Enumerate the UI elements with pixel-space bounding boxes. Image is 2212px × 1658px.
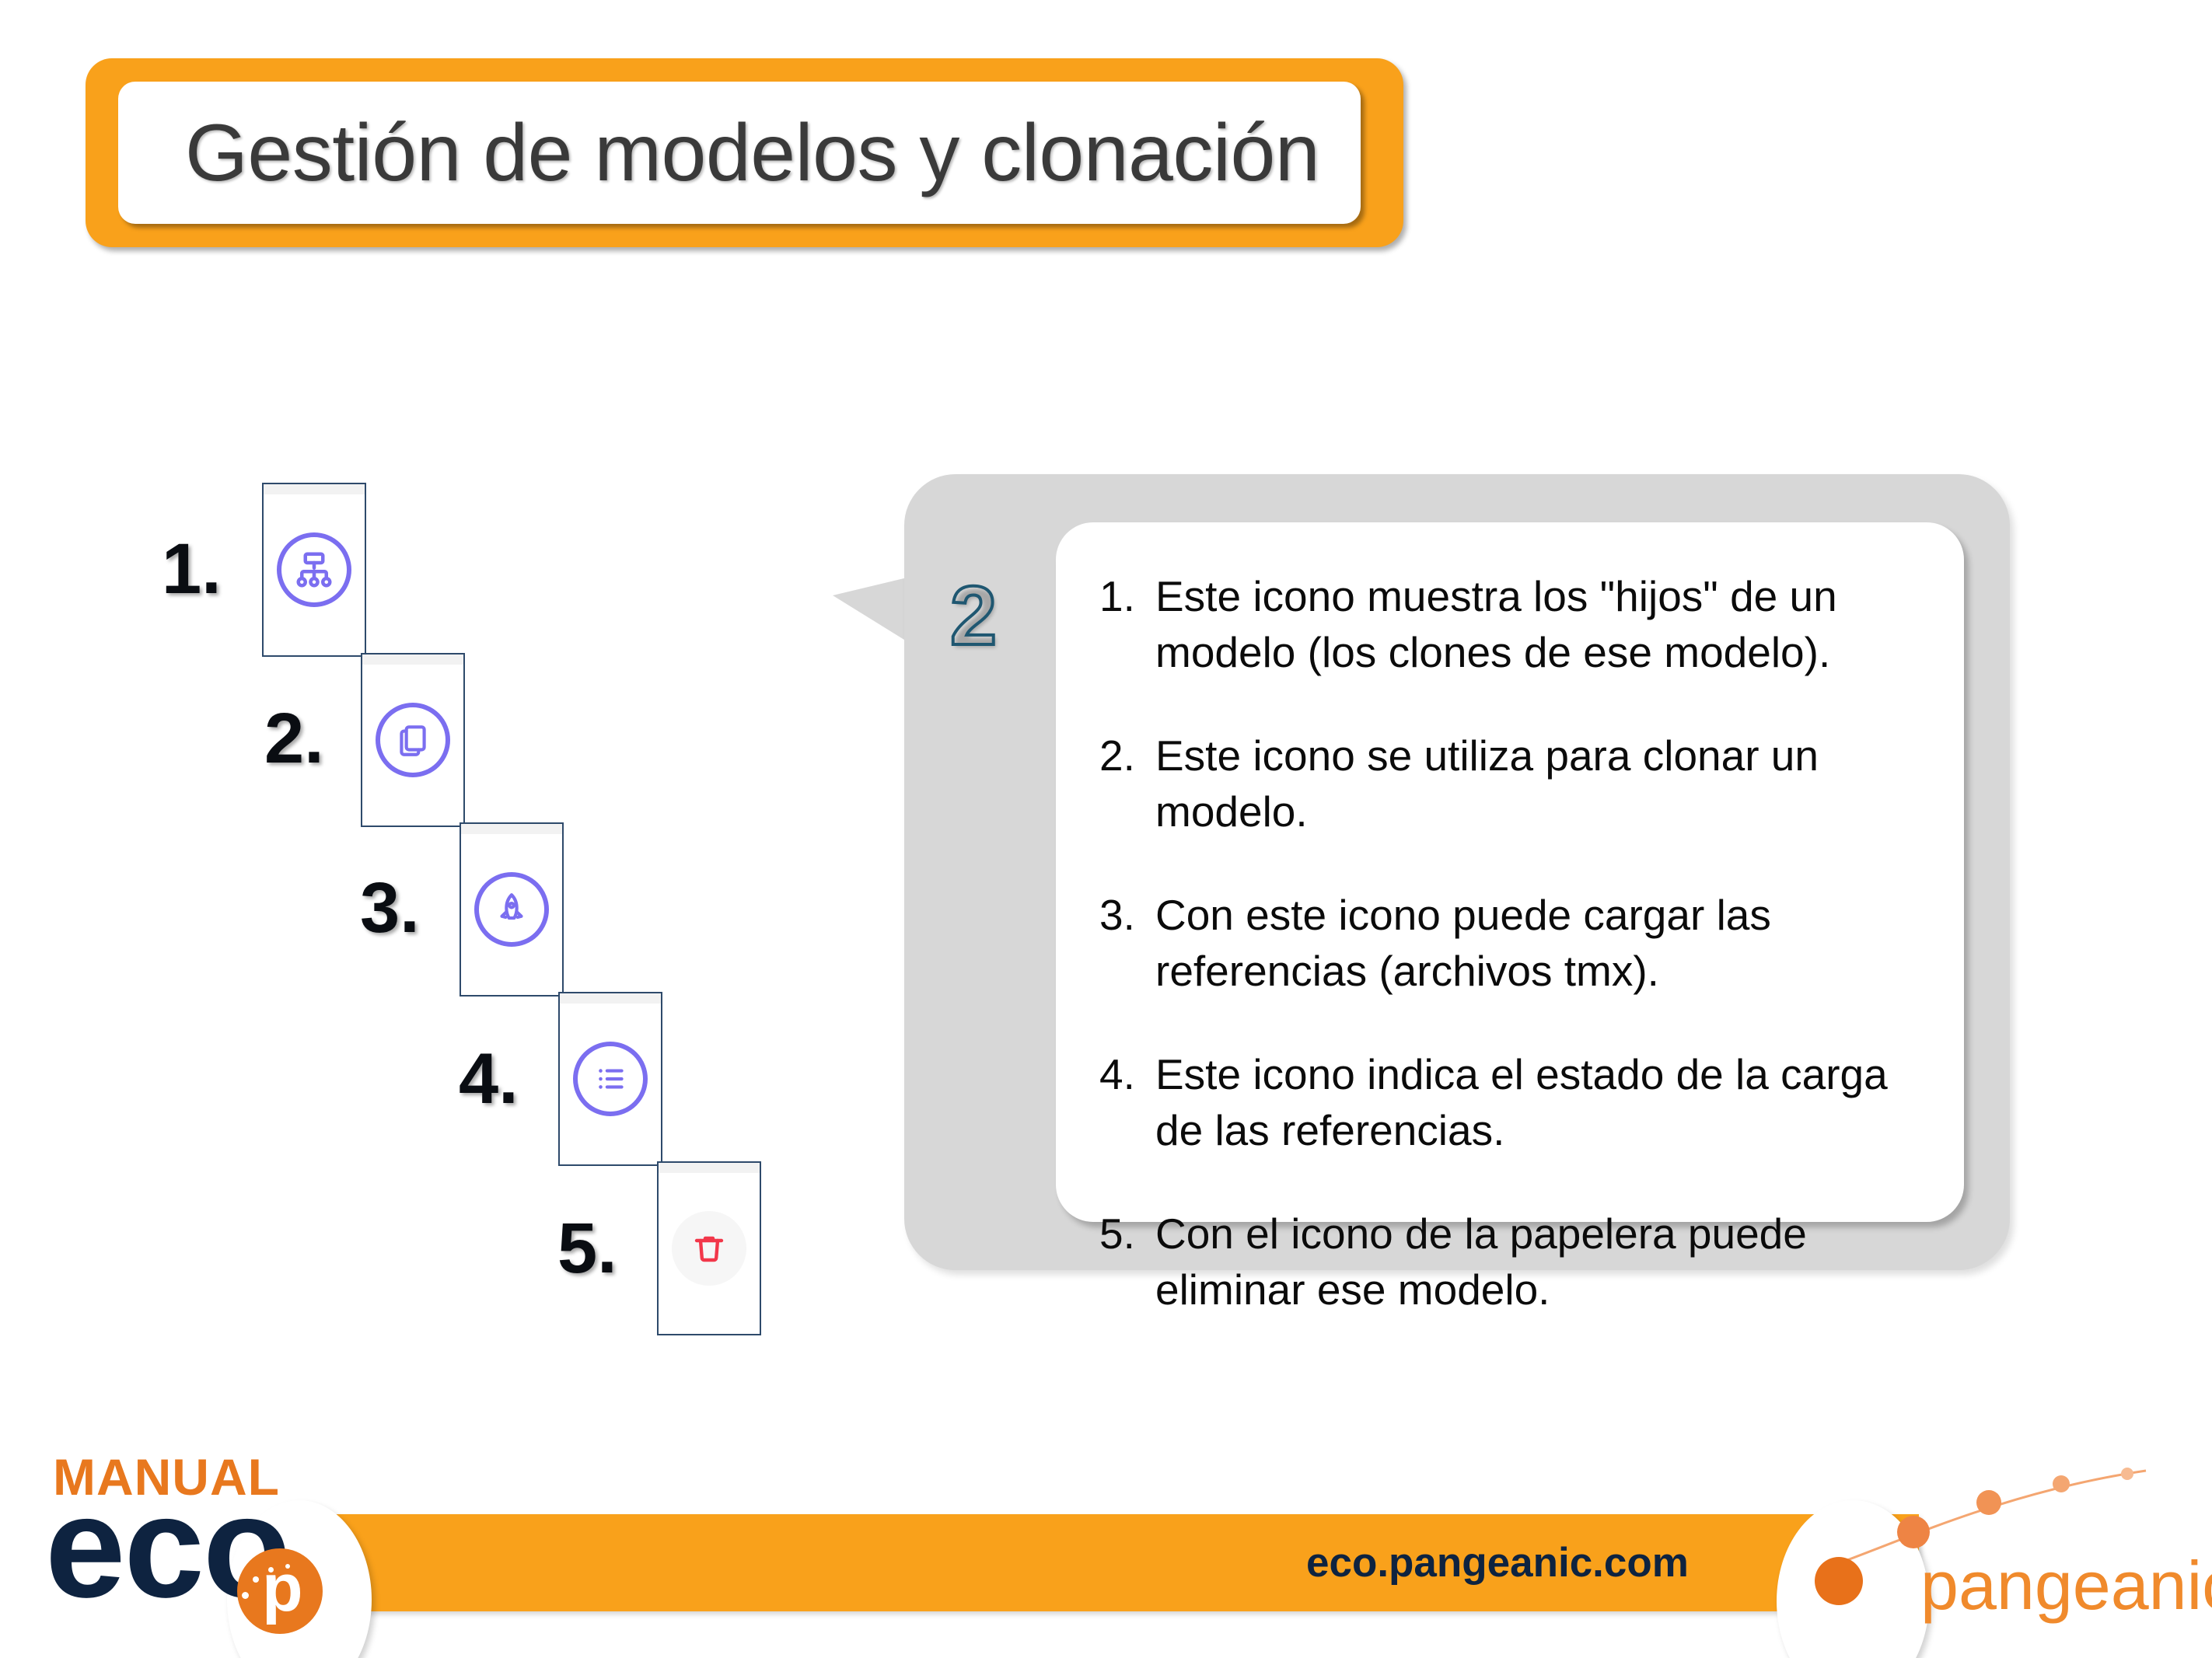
list-icon[interactable]: [573, 1042, 648, 1116]
list-item: Este icono indica el estado de la carga …: [1096, 1047, 1924, 1158]
list-item: Este icono se utiliza para clonar un mod…: [1096, 728, 1924, 839]
list-item: Este icono muestra los "hijos" de un mod…: [1096, 569, 1924, 680]
list-item: Con este icono puede cargar las referenc…: [1096, 888, 1924, 999]
screenshot-card-3: [460, 822, 564, 997]
step-number-3: 3.: [360, 867, 420, 949]
badge-dot-2: [253, 1576, 259, 1583]
step-number-4: 4.: [459, 1038, 519, 1120]
eco-badge-letter: p: [262, 1555, 303, 1621]
card-icon-slot: [461, 872, 562, 947]
badge-dot-1: [242, 1592, 249, 1599]
card-topbar: [362, 654, 463, 665]
card-topbar: [659, 1163, 760, 1173]
eco-p-badge-icon: p: [237, 1548, 323, 1634]
step-number-2: 2.: [264, 698, 324, 780]
callout-marker: 2: [950, 574, 997, 658]
sitemap-icon[interactable]: [277, 532, 351, 607]
card-topbar: [264, 484, 365, 494]
rocket-icon[interactable]: [474, 872, 549, 947]
card-topbar: [560, 993, 661, 1004]
card-topbar: [461, 824, 562, 834]
title-banner-inner: Gestión de modelos y clonación: [118, 82, 1361, 224]
title-banner: Gestión de modelos y clonación: [86, 58, 1403, 247]
step-number-5: 5.: [557, 1208, 617, 1290]
page-title: Gestión de modelos y clonación: [185, 113, 1319, 194]
pangeanic-dot-1-icon: [1815, 1557, 1863, 1605]
callout-list: Este icono muestra los "hijos" de un mod…: [1096, 569, 1924, 1318]
callout-card: Este icono muestra los "hijos" de un mod…: [1056, 522, 1964, 1222]
card-icon-slot: [659, 1211, 760, 1286]
step-number-1: 1.: [162, 529, 222, 610]
pangeanic-dot-2-icon: [1897, 1516, 1930, 1548]
clone-icon[interactable]: [376, 703, 450, 777]
card-icon-slot: [362, 703, 463, 777]
list-item: Con el icono de la papelera puede elimin…: [1096, 1206, 1924, 1318]
callout-tail: [833, 577, 910, 644]
pangeanic-brand-text: pangeanic: [1920, 1552, 2212, 1620]
slide-canvas: Gestión de modelos y clonación 1.: [0, 0, 2212, 1658]
pangeanic-dot-5-icon: [2121, 1468, 2133, 1480]
screenshot-card-2: [361, 653, 465, 827]
card-icon-slot: [264, 532, 365, 607]
trash-icon[interactable]: [672, 1211, 746, 1286]
screenshot-card-1: [262, 483, 366, 657]
pangeanic-dot-3-icon: [1976, 1490, 2001, 1515]
card-icon-slot: [560, 1042, 661, 1116]
footer-url[interactable]: eco.pangeanic.com: [1306, 1539, 1689, 1586]
screenshot-card-4: [558, 992, 662, 1166]
screenshot-card-5: [657, 1161, 761, 1335]
pangeanic-dot-4-icon: [2053, 1475, 2070, 1492]
